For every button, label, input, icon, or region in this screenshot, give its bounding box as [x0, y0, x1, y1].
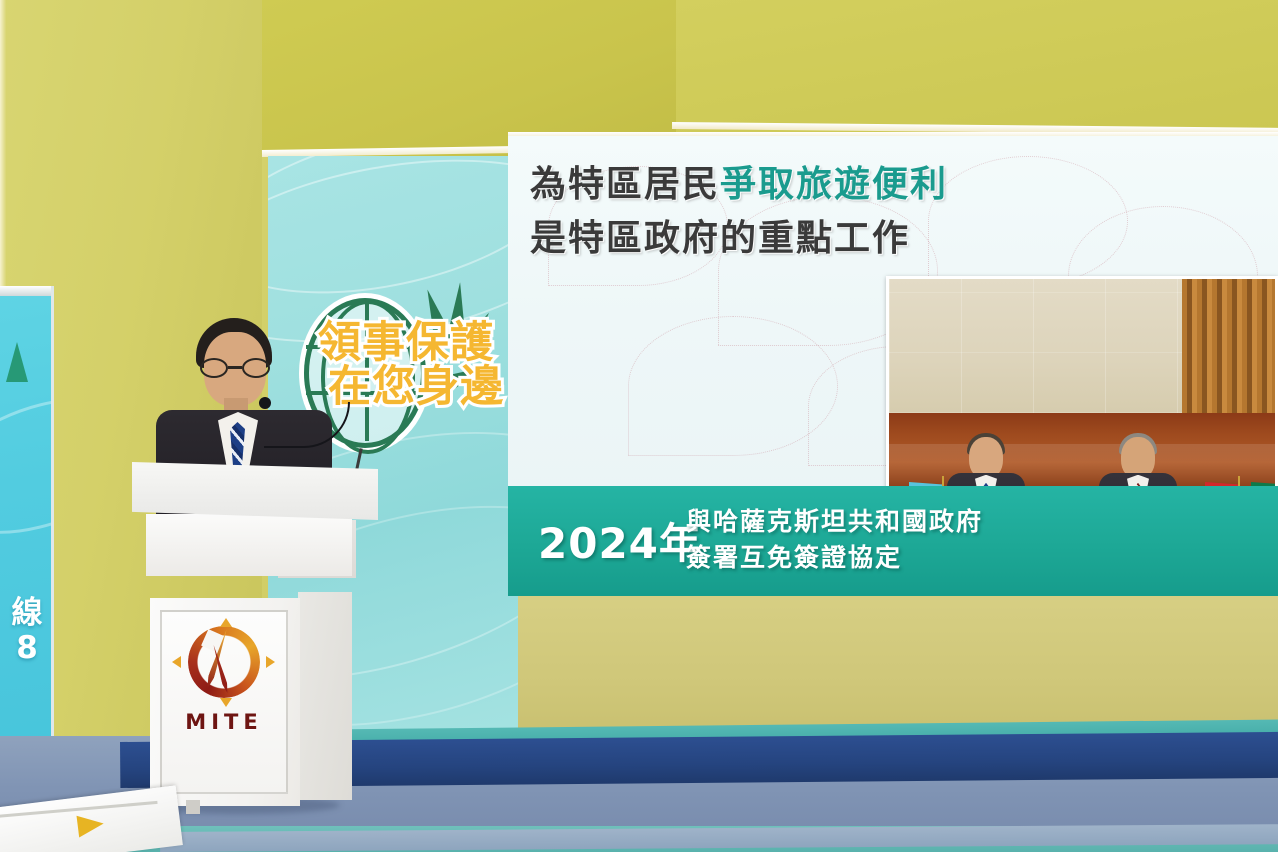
consular-logo-line-2: 在您身邊	[328, 366, 508, 410]
signing-ceremony-photo	[886, 276, 1278, 498]
podium-stem	[186, 800, 200, 814]
caption-line-1: 與哈薩克斯坦共和國政府	[686, 504, 983, 540]
consular-logo-line-1: 領事保護	[318, 322, 508, 366]
podium-base-side	[298, 592, 352, 800]
mite-logo: MITE	[174, 622, 274, 742]
caption-year: 2024年	[538, 510, 702, 571]
podium-top	[132, 462, 378, 520]
left-banner-text: 線	[2, 596, 52, 631]
slide-headline: 為特區居民爭取旅遊便利 是特區政府的重點工作	[530, 158, 1090, 266]
headline-prefix: 為特區居民	[530, 164, 720, 205]
chevron-arrow-icon	[77, 813, 105, 838]
caption-line-2: 簽署互免簽證協定	[686, 540, 983, 576]
headline-highlight: 爭取旅遊便利	[720, 164, 948, 205]
mite-logo-text: MITE	[174, 710, 274, 734]
presentation-slide: 為特區居民爭取旅遊便利 是特區政府的重點工作	[508, 136, 1278, 596]
eyeglasses-icon	[200, 358, 270, 378]
left-banner-number: 8	[2, 631, 52, 666]
slide-caption-banner: 2024年 與哈薩克斯坦共和國政府 簽署互免簽證協定	[508, 486, 1278, 596]
headline-line-2: 是特區政府的重點工作	[530, 212, 1090, 266]
left-vertical-banner: 線 8	[0, 286, 54, 786]
press-conference-scene: 領事保護 在您身邊 為特區居民爭取旅遊便利 是特區政府的重點工作	[0, 0, 1278, 852]
microphone-icon	[264, 402, 354, 458]
curtain	[1182, 279, 1275, 413]
podium-mid	[146, 514, 352, 576]
wall-panel-right-upper	[676, 0, 1278, 134]
